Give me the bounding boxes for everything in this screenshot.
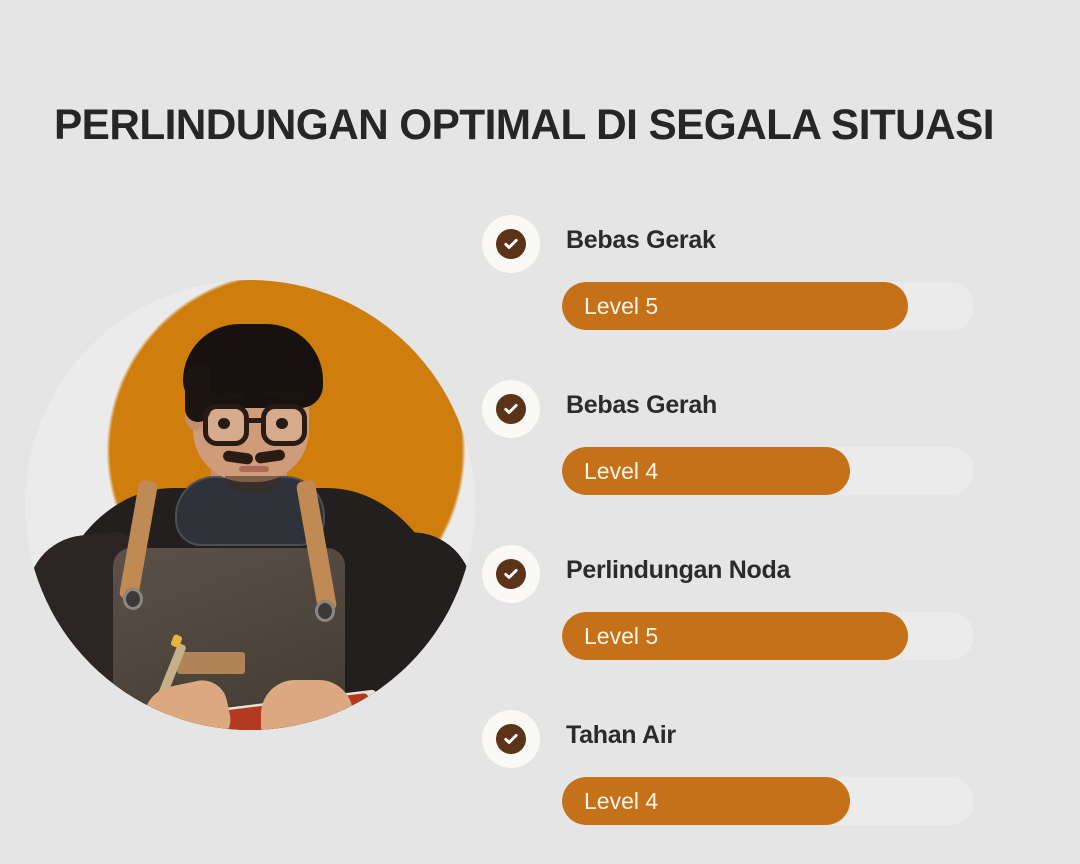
feature-list: Bebas Gerak Level 5 Bebas Gerah Level 4	[480, 204, 1000, 864]
check-disc	[496, 394, 526, 424]
check-circle-icon	[482, 545, 540, 603]
portrait-photo	[25, 280, 475, 730]
photo-apron-clip-right	[315, 600, 335, 622]
level-value: Level 5	[584, 623, 658, 650]
check-disc	[496, 724, 526, 754]
photo-apron-label	[177, 652, 245, 674]
portrait-photo-block	[10, 175, 480, 775]
feature-label: Bebas Gerak	[566, 226, 716, 255]
check-disc	[496, 229, 526, 259]
photo-tattoo	[343, 710, 383, 730]
level-meter: Level 5	[562, 282, 974, 330]
check-circle-icon	[482, 710, 540, 768]
level-value: Level 4	[584, 788, 658, 815]
photo-lips	[239, 466, 269, 472]
photo-glasses-bridge	[247, 418, 263, 423]
level-meter: Level 5	[562, 612, 974, 660]
photo-hand-right	[261, 680, 353, 730]
level-meter-fill: Level 4	[562, 447, 850, 495]
level-meter-fill: Level 5	[562, 282, 908, 330]
feature-label: Tahan Air	[566, 721, 676, 750]
photo-beard-shadow	[225, 476, 281, 492]
check-disc	[496, 559, 526, 589]
feature-row: Bebas Gerak Level 5	[480, 204, 1000, 369]
check-circle-icon	[482, 380, 540, 438]
level-meter: Level 4	[562, 777, 974, 825]
level-meter-fill: Level 4	[562, 777, 850, 825]
infographic-slide: PERLINDUNGAN OPTIMAL DI SEGALA SITUASI	[0, 0, 1080, 842]
feature-label: Perlindungan Noda	[566, 556, 790, 585]
feature-row: Perlindungan Noda Level 5	[480, 534, 1000, 699]
level-value: Level 4	[584, 458, 658, 485]
photo-eye-left	[218, 418, 230, 429]
check-circle-icon	[482, 215, 540, 273]
level-value: Level 5	[584, 293, 658, 320]
page-title: PERLINDUNGAN OPTIMAL DI SEGALA SITUASI	[54, 100, 1029, 150]
photo-eye-right	[276, 418, 288, 429]
photo-apron-clip-left	[123, 588, 143, 610]
level-meter-fill: Level 5	[562, 612, 908, 660]
level-meter: Level 4	[562, 447, 974, 495]
feature-row: Bebas Gerah Level 4	[480, 369, 1000, 534]
feature-label: Bebas Gerah	[566, 391, 717, 420]
feature-row: Tahan Air Level 4	[480, 699, 1000, 864]
